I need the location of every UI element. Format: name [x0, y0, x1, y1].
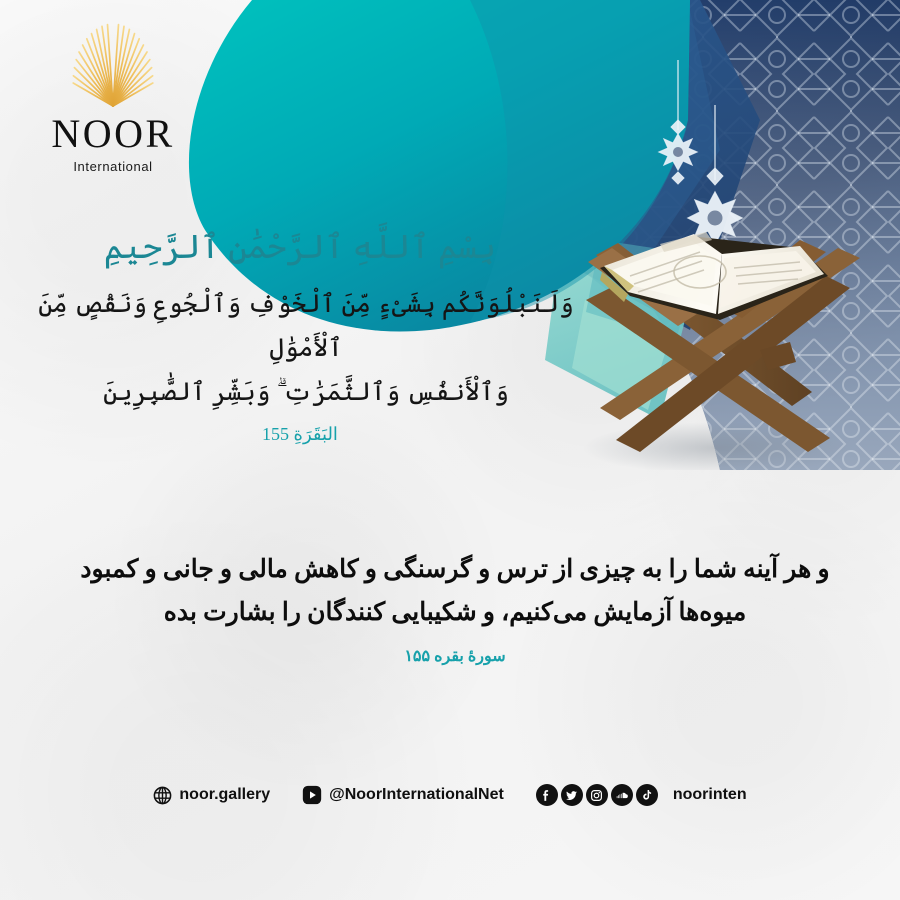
brand-name: NOOR: [38, 114, 188, 154]
website-label: noor.gallery: [179, 786, 270, 804]
bismillah-text: بِسْمِ ٱللَّهِ ٱلرَّحْمَٰنِ ٱلرَّحِيمِ: [0, 228, 600, 269]
verse-reference-arabic: البَقَرَةِ 155: [0, 424, 600, 445]
footer-social-bar: noor.gallery @NoorInternationalNet: [0, 784, 900, 806]
facebook-icon[interactable]: [536, 784, 558, 806]
quran-verse-poster: NOOR International بِسْمِ ٱللَّهِ ٱلرَّح…: [0, 0, 900, 900]
twitter-icon[interactable]: [561, 784, 583, 806]
youtube-label: @NoorInternationalNet: [329, 786, 504, 804]
social-icon-row: [536, 784, 658, 806]
website-item[interactable]: noor.gallery: [153, 786, 270, 805]
verse-block: بِسْمِ ٱللَّهِ ٱلرَّحْمَٰنِ ٱلرَّحِيمِ و…: [0, 228, 600, 445]
globe-icon: [153, 786, 172, 805]
translation-reference-persian: سورۀ بقره ۱۵۵: [60, 646, 850, 666]
brand-tagline: International: [38, 159, 188, 174]
soundcloud-icon[interactable]: [611, 784, 633, 806]
sunburst-icon: [61, 22, 165, 108]
brand-logo: NOOR International: [38, 22, 188, 174]
verse-arabic-line-2: وَٱلْأَنفُسِ وَٱلثَّمَرَٰتِ ۗ وَبَشِّرِ …: [0, 371, 600, 415]
youtube-item[interactable]: @NoorInternationalNet: [302, 785, 504, 805]
social-handle-label: noorinten: [673, 786, 747, 804]
translation-line-2: میوه‌ها آزمایش می‌کنیم، و شکیبایی کنندگا…: [60, 591, 850, 634]
verse-arabic-line-1: وَلَنَبْلُوَنَّكُم بِشَىْءٍ مِّنَ ٱلْخَو…: [0, 283, 600, 371]
tiktok-icon[interactable]: [636, 784, 658, 806]
youtube-icon: [302, 785, 322, 805]
translation-block: و هر آینه شما را به چیزی از ترس و گرسنگی…: [60, 548, 850, 666]
instagram-icon[interactable]: [586, 784, 608, 806]
translation-line-1: و هر آینه شما را به چیزی از ترس و گرسنگی…: [60, 548, 850, 591]
